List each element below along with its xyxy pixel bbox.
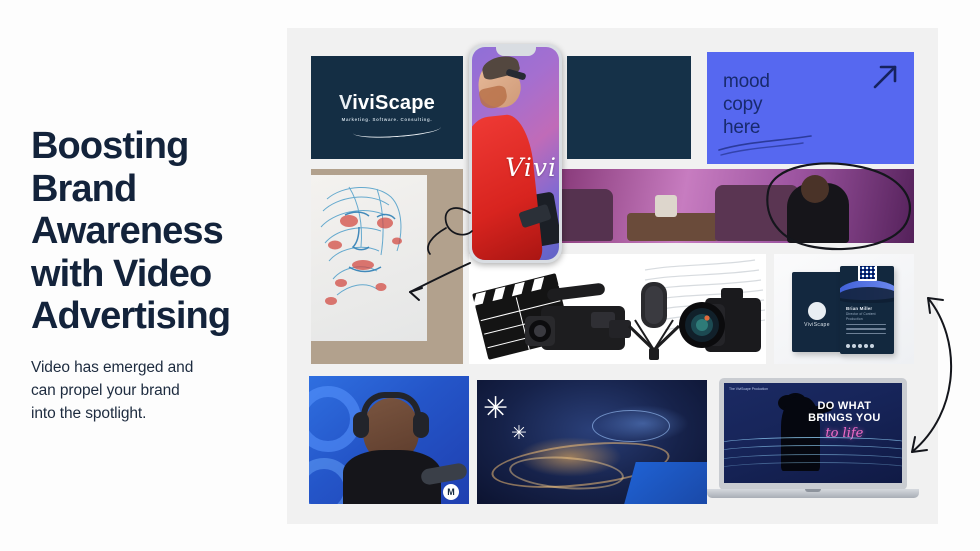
red-jacket-figure [472,113,544,260]
channel-logo-badge: M [443,484,459,500]
headphones-band-icon [361,392,421,416]
mural-face-artwork [319,181,417,321]
slide-canvas: Boosting Brand Awareness with Video Adve… [0,0,980,551]
tile-street-art[interactable] [311,169,463,364]
equipment-illustration [469,254,766,364]
page-subtitle: Video has emerged and can propel your br… [31,356,271,426]
laptop-notch [805,489,822,492]
brand-logo: ViviScape Marketing. Software. Consultin… [339,93,435,122]
moodboard-panel: ViviScape Marketing. Software. Consultin… [287,28,938,524]
arrow-up-right-icon [870,62,900,92]
tile-video-equipment[interactable] [469,254,766,364]
tile-aerial-cityscape[interactable]: ✳ ✳ [477,380,707,504]
business-card-back: ViviScape [792,272,842,352]
text-column: Boosting Brand Awareness with Video Adve… [0,0,287,551]
coffee-table [627,213,719,241]
tile-navy-swatch[interactable] [567,56,691,159]
phone-frame: Vivi [469,44,562,263]
business-card-front: Brian Miller Director of Content Product… [840,266,894,354]
brand-wordmark: ViviScape [339,93,435,113]
screen-headline: DO WHAT BRINGS YOU to life [793,400,896,441]
phone-screen: Vivi [472,47,559,260]
city-blue-roof [624,462,707,504]
mood-underline-squiggle-icon [715,132,835,158]
card-social-icons [846,344,874,348]
city-ring-structure [592,410,670,442]
flower-vase [655,195,677,217]
card-logo-icon [808,302,826,320]
brand-swoosh-icon [353,120,442,140]
phone-script-text: Vivi [505,153,557,182]
tile-business-cards[interactable]: ViviScape Brian Miller Director of Conte… [774,254,914,364]
sparkle-icon-large: ✳ [483,394,508,424]
laptop-screen: The ViviScape Production DO WHAT BRINGS … [724,383,902,483]
laptop-lid: The ViviScape Production DO WHAT BRINGS … [719,378,907,490]
screen-headline-line2: BRINGS YOU [793,412,896,424]
tile-mood-copy[interactable]: mood copy here [707,52,914,164]
sparkle-icon-small: ✳ [511,424,527,443]
tile-phone-mockup[interactable]: Vivi [469,44,562,263]
page-title: Boosting Brand Awareness with Video Adve… [31,125,271,338]
brand-tagline: Marketing. Software. Consulting. [339,117,435,122]
card-wave-graphic-2 [840,287,894,303]
card-contact-name: Brian Miller [846,306,872,311]
card-back-brand: ViviScape [804,322,830,328]
card-contact-lines [846,324,886,337]
tile-laptop-mockup[interactable]: The ViviScape Production DO WHAT BRINGS … [707,376,919,508]
headphone-cup-right [413,412,429,438]
card-contact-role: Director of Content Production [846,312,890,322]
tile-logo[interactable]: ViviScape Marketing. Software. Consultin… [311,56,463,159]
phone-notch [496,47,536,56]
neon-wave-4 [724,462,902,478]
screen-headline-line1: DO WHAT [793,400,896,412]
tile-podcast-host[interactable]: M [309,376,469,504]
headphone-cup-left [353,412,369,438]
host-head-right [801,175,829,203]
qr-code-icon [858,266,877,281]
screen-corner-note: The ViviScape Production [729,387,768,392]
